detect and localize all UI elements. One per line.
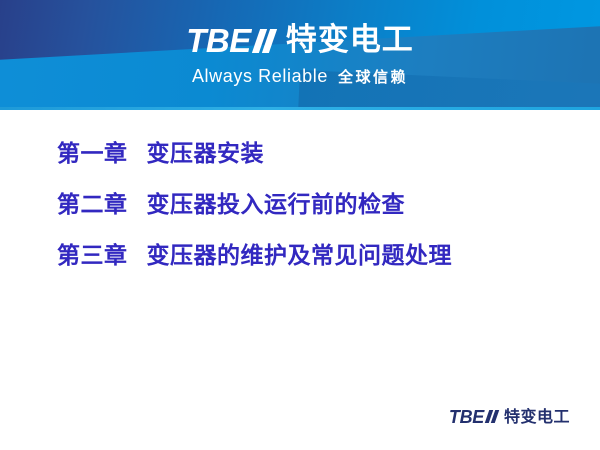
chapter-title: 变压器投入运行前的检查 [147,192,406,218]
chapter-number: 第二章 [57,192,128,218]
chapter-number: 第三章 [57,243,128,269]
list-item: 第三章 变压器的维护及常见问题处理 [57,239,600,290]
list-item: 第二章 变压器投入运行前的检查 [57,188,600,239]
footer-tbea-wordmark-text: TBE [449,408,484,426]
header-banner: TBE 特变电工 Always Reliable 全球信赖 [0,0,600,110]
tbea-wordmark-text: TBE [186,24,251,57]
footer-tbea-lambda-a-icon [485,410,498,423]
chapter-list: 第一章 变压器安装 第二章 变压器投入运行前的检查 第三章 变压器的维护及常见问… [0,110,600,400]
brand-tagline-row: Always Reliable 全球信赖 [0,66,600,87]
chapter-title: 变压器安装 [147,141,265,167]
tagline-english: Always Reliable [192,66,328,87]
tbea-lambda-a-icon [252,29,275,53]
tagline-chinese: 全球信赖 [338,66,408,87]
footer-tbea-wordmark-icon: TBE [449,408,498,426]
chapter-title: 变压器的维护及常见问题处理 [147,243,453,269]
brand-block: TBE 特变电工 Always Reliable 全球信赖 [0,0,600,87]
footer-bar: TBE 特变电工 [0,400,600,450]
footer-chinese-name: 特变电工 [504,409,570,425]
tbea-wordmark-icon: TBE [186,24,275,57]
brand-chinese-name: 特变电工 [286,25,414,56]
brand-logo-row: TBE 特变电工 [0,24,600,57]
chapter-number: 第一章 [57,141,128,167]
footer-logo: TBE 特变电工 [449,408,570,426]
list-item: 第一章 变压器安装 [57,137,600,188]
